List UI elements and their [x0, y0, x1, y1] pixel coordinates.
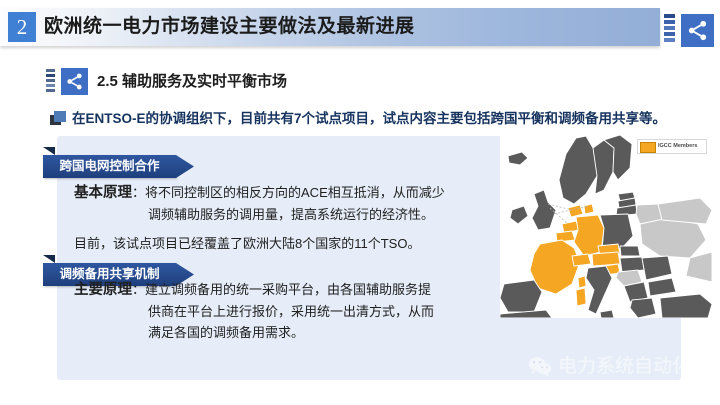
europe-map-image: IGCC Members [500, 132, 712, 318]
slide-header: 2 欧洲统一电力市场建设主要做法及最新进展 [0, 8, 720, 46]
body-line: 调频辅助服务的调用量，提高系统运行的经济性。 [74, 204, 494, 225]
body-line: 满足各国的调频备用需求。 [74, 322, 494, 343]
slide-canvas: 2 欧洲统一电力市场建设主要做法及最新进展 [0, 0, 720, 405]
watermark-text: 电力系统自动化 [558, 352, 691, 382]
body-line-label: 主要原理 [74, 282, 132, 298]
section-body-2: 主要原理：建立调频备用的统一采购平台，由各国辅助服务提 供商在平台上进行报价，采… [74, 279, 494, 343]
section-banner-label: 跨国电网控制合作 [43, 155, 176, 178]
square-bullet-icon [50, 111, 66, 125]
section-number-badge: 2 [8, 12, 36, 42]
body-line-text: 满足各国的调频备用需求。 [148, 325, 304, 340]
body-line-text: 将不同控制区的相反方向的ACE相互抵消，从而减少 [145, 185, 445, 200]
body-line: 目前，该试点项目已经覆盖了欧洲大陆8个国家的11个TSO。 [74, 233, 494, 254]
body-line-sep: ： [132, 282, 145, 297]
body-line: 供商在平台上进行报价，采用统一出清方式，从而 [74, 301, 494, 322]
lead-statement-text: 在ENTSO-E的协调组织下，目前共有7个试点项目，试点内容主要包括跨国平衡和调… [72, 108, 666, 130]
subtitle-text: 2.5 辅助服务及实时平衡市场 [97, 68, 287, 95]
body-line-sep: ： [132, 185, 145, 200]
header-tick-marks [664, 14, 675, 47]
subtitle-tick-marks [46, 69, 55, 95]
ribbon-fold [43, 147, 55, 155]
map-legend: IGCC Members [637, 139, 707, 154]
body-line-label: 基本原理 [74, 185, 132, 201]
legend-color-swatch [640, 142, 656, 153]
ribbon-fold [43, 255, 55, 263]
body-line-text: 供商在平台上进行报价，采用统一出清方式，从而 [148, 304, 434, 319]
wechat-icon [528, 356, 552, 377]
section-body-1: 基本原理：将不同控制区的相反方向的ACE相互抵消，从而减少 调频辅助服务的调用量… [74, 182, 494, 254]
body-line-text: 调频辅助服务的调用量，提高系统运行的经济性。 [148, 207, 434, 222]
page-title: 欧洲统一电力市场建设主要做法及最新进展 [44, 8, 415, 46]
body-line-text: 目前，该试点项目已经覆盖了欧洲大陆8个国家的11个TSO。 [74, 236, 420, 251]
body-line: 主要原理：建立调频备用的统一采购平台，由各国辅助服务提 [74, 279, 494, 301]
share-icon[interactable] [681, 14, 714, 47]
share-icon[interactable] [61, 68, 88, 95]
body-line: 基本原理：将不同控制区的相反方向的ACE相互抵消，从而减少 [74, 182, 494, 204]
legend-label: IGCC Members [658, 141, 697, 152]
body-line-text: 建立调频备用的统一采购平台，由各国辅助服务提 [145, 282, 431, 297]
